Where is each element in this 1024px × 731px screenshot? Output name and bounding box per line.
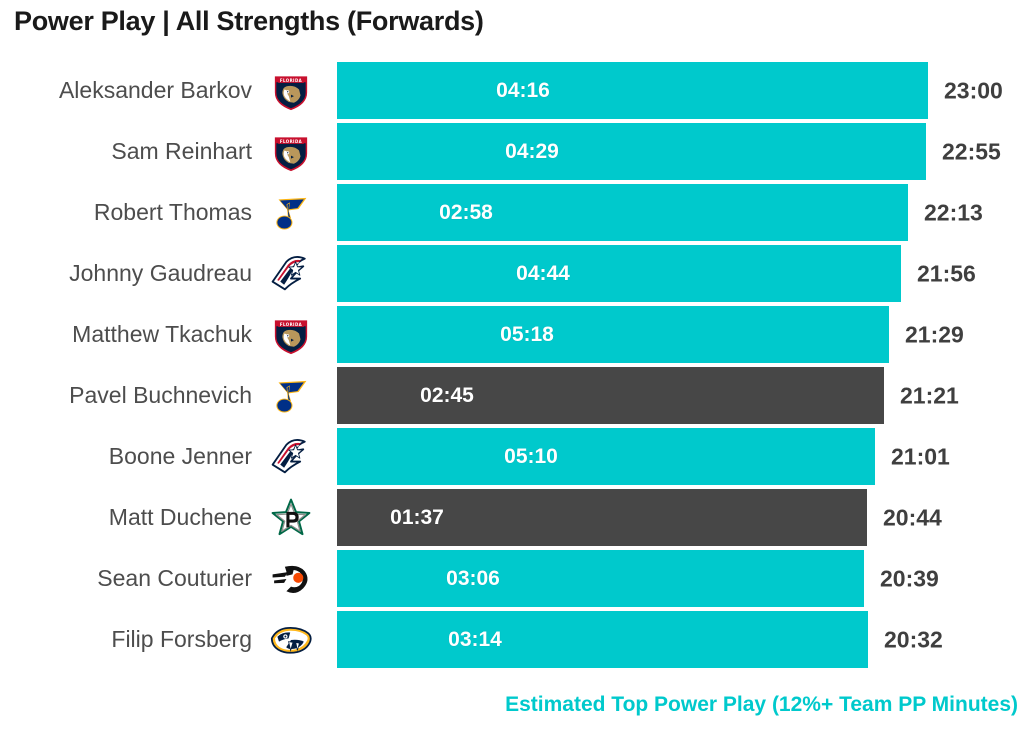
total-toi-value: 21:21 <box>900 382 959 409</box>
player-name: Matt Duchene <box>0 487 252 548</box>
st-louis-blues-logo-icon <box>260 370 322 422</box>
total-toi-value: 23:00 <box>944 77 1003 104</box>
florida-panthers-logo-icon: FLORIDA <box>260 309 322 361</box>
power-play-time-label: 01:37 <box>390 506 444 530</box>
toi-bar: 04:29 <box>337 123 926 180</box>
svg-text:FLORIDA: FLORIDA <box>280 321 303 326</box>
st-louis-blues-logo-icon <box>260 187 322 239</box>
power-play-time-label: 03:14 <box>448 628 502 652</box>
svg-text:FLORIDA: FLORIDA <box>280 138 303 143</box>
power-play-time-label: 04:16 <box>496 79 550 103</box>
columbus-blue-jackets-logo-icon <box>260 431 322 483</box>
total-toi-value: 20:44 <box>883 504 942 531</box>
player-name: Sean Couturier <box>0 548 252 609</box>
toi-bar: 05:18 <box>337 306 889 363</box>
page-title: Power Play | All Strengths (Forwards) <box>14 6 484 37</box>
bar-row: Sean Couturier 03:0620:39 <box>0 548 1024 609</box>
toi-bar: 02:58 <box>337 184 908 241</box>
total-toi-value: 21:56 <box>917 260 976 287</box>
toi-bar: 04:44 <box>337 245 901 302</box>
player-name: Pavel Buchnevich <box>0 365 252 426</box>
player-name: Johnny Gaudreau <box>0 243 252 304</box>
bar-row: Johnny Gaudreau 04:4421:56 <box>0 243 1024 304</box>
toi-bar: 02:45 <box>337 367 884 424</box>
power-play-time-label: 02:58 <box>439 201 493 225</box>
toi-bar: 05:10 <box>337 428 875 485</box>
bar-row: Matt Duchene 01:3720:44 <box>0 487 1024 548</box>
bar-rows-container: Aleksander Barkov FLORIDA 04:1623:00Sam … <box>0 60 1024 670</box>
power-play-time-label: 04:29 <box>505 140 559 164</box>
power-play-time-label: 04:44 <box>516 262 570 286</box>
toi-bar: 03:06 <box>337 550 864 607</box>
player-name: Sam Reinhart <box>0 121 252 182</box>
legend-top-power-play: Estimated Top Power Play (12%+ Team PP M… <box>505 693 1018 717</box>
bar-row: Matthew Tkachuk FLORIDA 05:1821:29 <box>0 304 1024 365</box>
total-toi-value: 22:55 <box>942 138 1001 165</box>
florida-panthers-logo-icon: FLORIDA <box>260 126 322 178</box>
toi-bar: 01:37 <box>337 489 867 546</box>
player-name: Aleksander Barkov <box>0 60 252 121</box>
player-name: Filip Forsberg <box>0 609 252 670</box>
total-toi-value: 20:32 <box>884 626 943 653</box>
bar-row: Sam Reinhart FLORIDA 04:2922:55 <box>0 121 1024 182</box>
power-play-time-label: 05:18 <box>500 323 554 347</box>
bar-row: Robert Thomas 02:5822:13 <box>0 182 1024 243</box>
total-toi-value: 21:29 <box>905 321 964 348</box>
dallas-stars-logo-icon <box>260 492 322 544</box>
toi-bar: 04:16 <box>337 62 928 119</box>
columbus-blue-jackets-logo-icon <box>260 248 322 300</box>
player-name: Matthew Tkachuk <box>0 304 252 365</box>
total-toi-value: 22:13 <box>924 199 983 226</box>
player-name: Boone Jenner <box>0 426 252 487</box>
power-play-time-label: 02:45 <box>420 384 474 408</box>
power-play-chart: Power Play | All Strengths (Forwards) Al… <box>0 0 1024 731</box>
player-name: Robert Thomas <box>0 182 252 243</box>
florida-panthers-logo-icon: FLORIDA <box>260 65 322 117</box>
total-toi-value: 21:01 <box>891 443 950 470</box>
toi-bar: 03:14 <box>337 611 868 668</box>
power-play-time-label: 05:10 <box>504 445 558 469</box>
bar-row: Pavel Buchnevich 02:4521:21 <box>0 365 1024 426</box>
svg-text:FLORIDA: FLORIDA <box>280 77 303 82</box>
bar-row: Aleksander Barkov FLORIDA 04:1623:00 <box>0 60 1024 121</box>
nashville-predators-logo-icon <box>260 614 322 666</box>
power-play-time-label: 03:06 <box>446 567 500 591</box>
philadelphia-flyers-logo-icon <box>260 553 322 605</box>
total-toi-value: 20:39 <box>880 565 939 592</box>
bar-row: Boone Jenner 05:1021:01 <box>0 426 1024 487</box>
bar-row: Filip Forsberg 03:1420:32 <box>0 609 1024 670</box>
